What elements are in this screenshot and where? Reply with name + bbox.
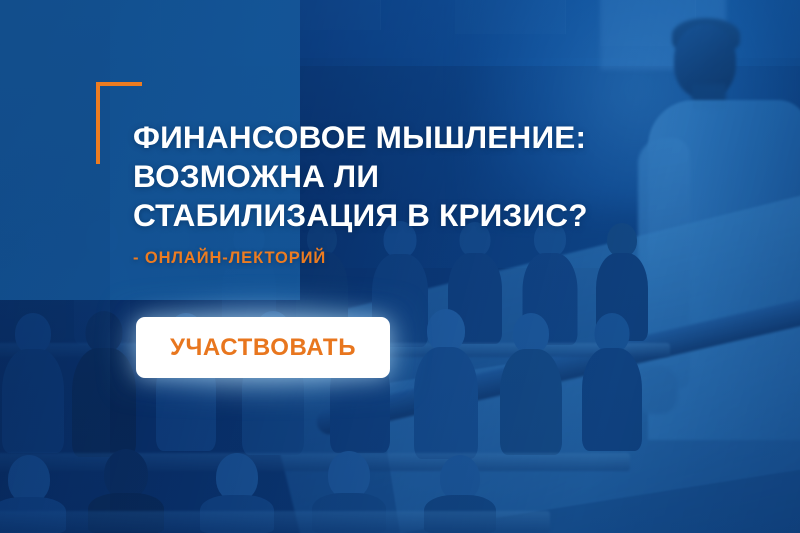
subtitle: - ОНЛАЙН-ЛЕКТОРИЙ: [133, 249, 326, 268]
headline-line-1: ФИНАНСОВОЕ МЫШЛЕНИЕ:: [133, 118, 693, 157]
cta-container: УЧАСТВОВАТЬ: [136, 317, 390, 378]
participate-button-label: УЧАСТВОВАТЬ: [170, 334, 356, 362]
participate-button[interactable]: УЧАСТВОВАТЬ: [136, 317, 390, 378]
banner-content: ФИНАНСОВОЕ МЫШЛЕНИЕ: ВОЗМОЖНА ЛИ СТАБИЛИ…: [0, 0, 800, 533]
promo-banner: ФИНАНСОВОЕ МЫШЛЕНИЕ: ВОЗМОЖНА ЛИ СТАБИЛИ…: [0, 0, 800, 533]
headline-line-2: ВОЗМОЖНА ЛИ: [133, 157, 693, 196]
headline-line-3: СТАБИЛИЗАЦИЯ В КРИЗИС?: [133, 196, 693, 235]
page-title: ФИНАНСОВОЕ МЫШЛЕНИЕ: ВОЗМОЖНА ЛИ СТАБИЛИ…: [133, 118, 693, 235]
